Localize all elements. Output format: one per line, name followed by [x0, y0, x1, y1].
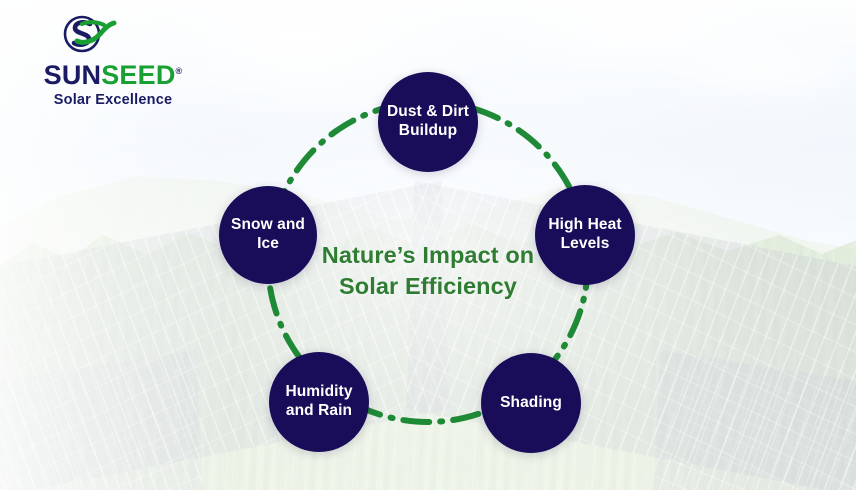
node-snow-and-ice[interactable]: Snow and Ice [219, 186, 317, 284]
node-label-line-1: High Heat [548, 216, 621, 235]
node-label-line-1: Humidity [285, 383, 352, 402]
center-title: Nature’s Impact on Solar Efficiency [318, 240, 538, 302]
node-label-line-2: Ice [231, 235, 305, 254]
cycle-diagram: Nature’s Impact on Solar Efficiency Dust… [0, 0, 856, 490]
node-label-line-2: Levels [548, 235, 621, 254]
center-title-line-3: Efficiency [405, 273, 517, 299]
node-high-heat-levels[interactable]: High Heat Levels [535, 185, 635, 285]
center-title-line-1: Nature’s Impact [322, 242, 499, 268]
node-label-line-2: and Rain [285, 402, 352, 421]
node-label-line-2: Buildup [387, 122, 469, 141]
node-humidity-and-rain[interactable]: Humidity and Rain [269, 352, 369, 452]
node-label-line-1: Dust & Dirt [387, 103, 469, 122]
node-shading[interactable]: Shading [481, 353, 581, 453]
infographic-canvas: SUNSEED® Solar Excellence Nature’s Impac… [0, 0, 856, 490]
node-dust-dirt-buildup[interactable]: Dust & Dirt Buildup [378, 72, 478, 172]
node-label-line-1: Snow and [231, 216, 305, 235]
node-label-line-1: Shading [500, 394, 562, 413]
